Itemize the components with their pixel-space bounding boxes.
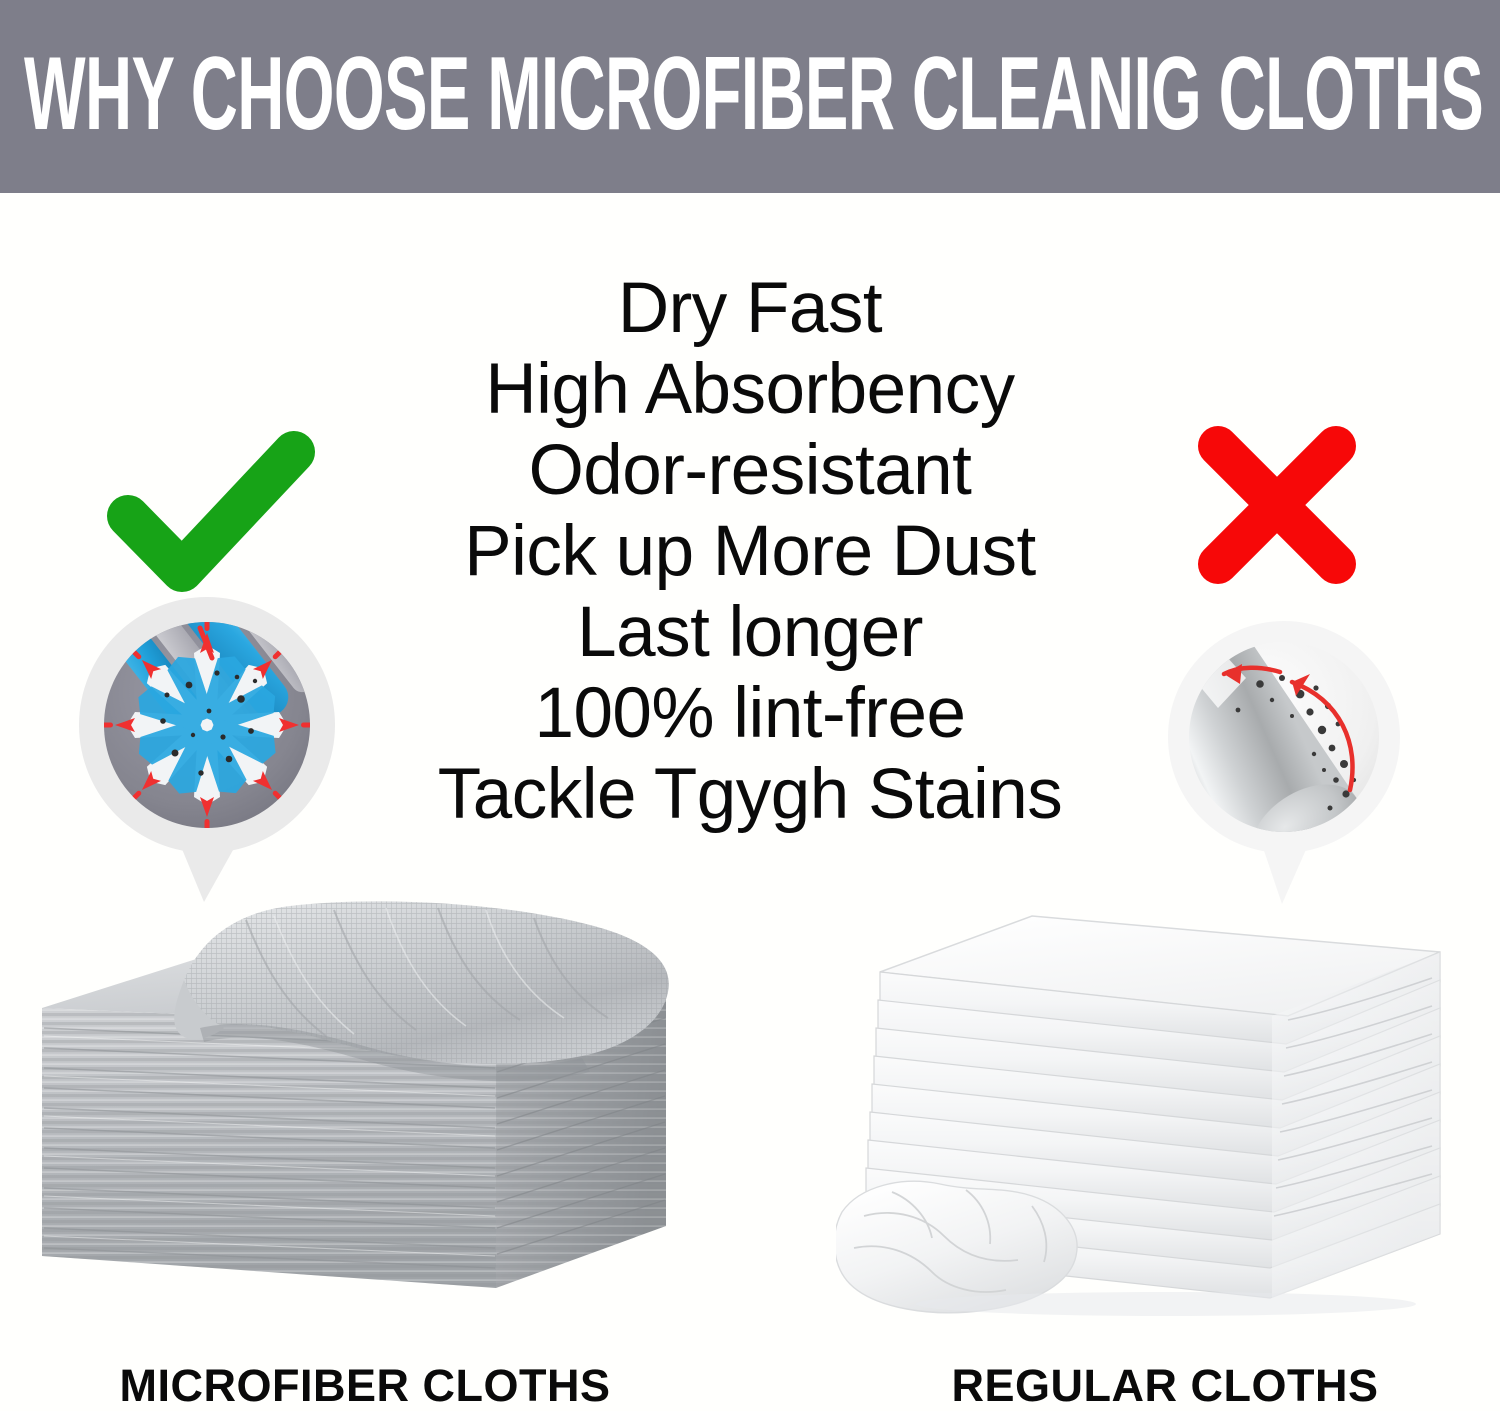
feature-item: Tackle Tgygh Stains: [360, 754, 1140, 835]
page-title: WHY CHOOSE MICROFIBER CLEANIG CLOTHS: [24, 33, 940, 155]
caption-microfiber-cloths: MICROFIBER CLOTHS: [40, 1362, 690, 1410]
microfiber-cloth-stack-image: [34, 896, 706, 1314]
feature-item: Pick up More Dust: [360, 511, 1140, 592]
feature-item: Odor-resistant: [360, 430, 1140, 511]
red-cross-icon: [1192, 420, 1362, 590]
infographic-canvas: WHY CHOOSE MICROFIBER CLEANIG CLOTHS Dry…: [0, 0, 1500, 1411]
feature-list: Dry Fast High Absorbency Odor-resistant …: [360, 268, 1140, 835]
green-check-icon: [106, 430, 316, 595]
regular-cloth-stack-image: [836, 900, 1480, 1320]
header-band: WHY CHOOSE MICROFIBER CLEANIG CLOTHS: [0, 0, 1500, 193]
feature-item: 100% lint-free: [360, 673, 1140, 754]
feature-item: Last longer: [360, 592, 1140, 673]
microfiber-fiber-cross-section-icon: [62, 590, 352, 910]
feature-item: Dry Fast: [360, 268, 1140, 349]
caption-regular-cloths: REGULAR CLOTHS: [840, 1362, 1490, 1410]
feature-item: High Absorbency: [360, 349, 1140, 430]
cotton-fiber-cylinder-icon: [1164, 612, 1404, 912]
